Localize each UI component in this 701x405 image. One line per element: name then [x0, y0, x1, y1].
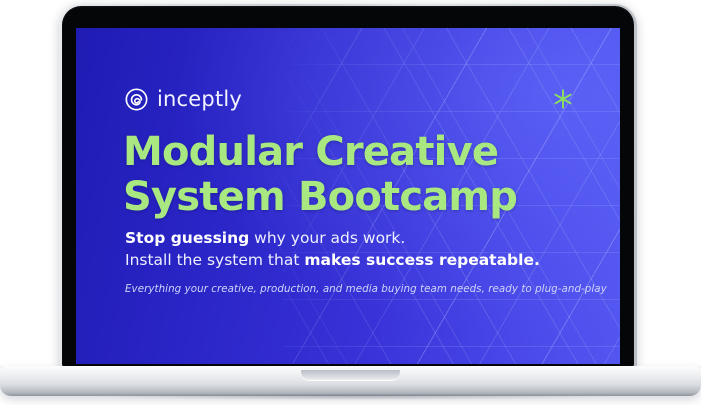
headline-line-1: Modular Creative [123, 130, 593, 175]
slide-content: inceptly Modular Creative System Bootcam… [76, 28, 620, 364]
laptop-screen: inceptly Modular Creative System Bootcam… [76, 28, 620, 364]
slide-tagline: Everything your creative, production, an… [125, 283, 615, 295]
subheadline-line-1-bold: Stop guessing [125, 229, 249, 247]
slide-subheadline: Stop guessing why your ads work. Install… [125, 227, 595, 271]
brand-name: inceptly [157, 87, 242, 111]
subheadline-line-2-rest: Install the system that [125, 251, 304, 269]
slide-headline: Modular Creative System Bootcamp [123, 130, 593, 220]
subheadline-line-1: Stop guessing why your ads work. [125, 227, 595, 249]
subheadline-line-1-rest: why your ads work. [249, 229, 405, 247]
subheadline-line-2-bold: makes success repeatable. [304, 251, 540, 269]
laptop-base-notch [301, 370, 400, 381]
subheadline-line-2: Install the system that makes success re… [125, 249, 595, 271]
laptop-mockup: inceptly Modular Creative System Bootcam… [0, 0, 701, 405]
laptop-base-shadow [18, 394, 683, 401]
headline-line-2: System Bootcamp [123, 175, 593, 220]
spiral-icon [125, 88, 148, 111]
screenshot-canvas: inceptly Modular Creative System Bootcam… [0, 0, 701, 405]
sparkle-asterisk-icon [552, 88, 574, 110]
brand-logo: inceptly [125, 87, 242, 111]
